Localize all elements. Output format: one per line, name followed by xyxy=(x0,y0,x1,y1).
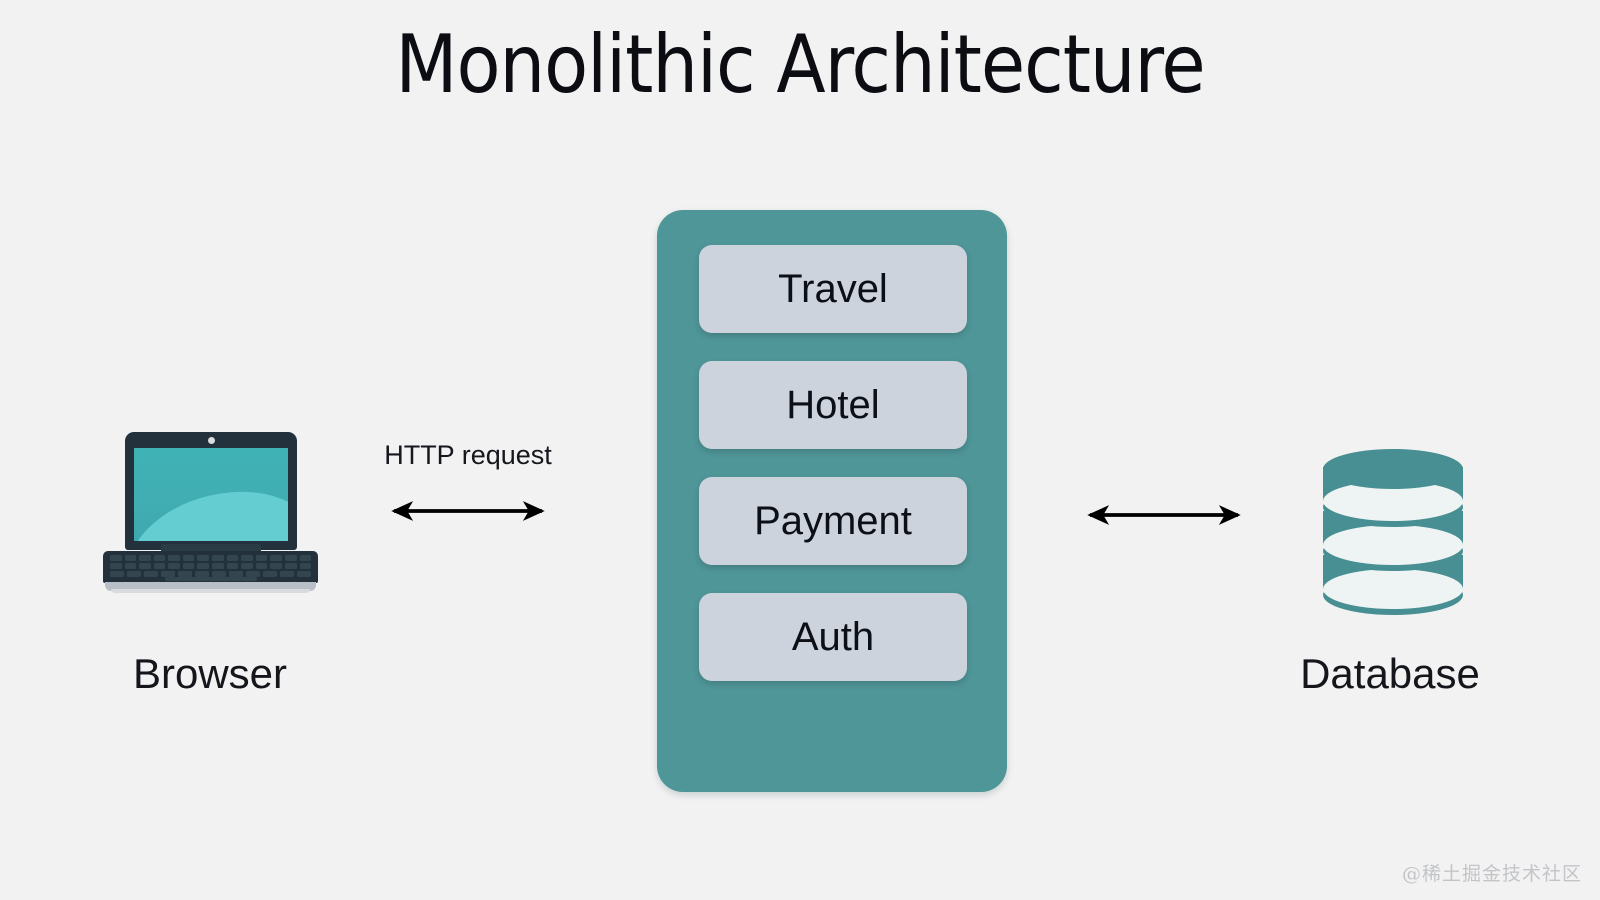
service-label: Travel xyxy=(778,267,888,312)
keyboard-spacebar xyxy=(165,577,257,581)
laptop-keyboard xyxy=(103,551,318,583)
database-disc-top xyxy=(1323,449,1463,489)
database-separator xyxy=(1323,525,1463,565)
service-block-hotel[interactable]: Hotel xyxy=(699,361,967,449)
laptop-lid xyxy=(125,432,297,550)
monolith-to-database-arrow xyxy=(1080,503,1252,527)
webcam-icon xyxy=(208,437,215,444)
service-block-payment[interactable]: Payment xyxy=(699,477,967,565)
database-cylinder-icon xyxy=(1323,449,1463,599)
browser-label: Browser xyxy=(60,650,360,698)
screen-wallpaper-swoosh xyxy=(134,486,288,541)
database-separator xyxy=(1323,569,1463,609)
laptop-base-shadow xyxy=(111,589,310,593)
laptop-icon xyxy=(103,432,318,592)
service-label: Payment xyxy=(754,499,912,544)
service-list: Travel Hotel Payment Auth xyxy=(699,245,967,681)
service-block-travel[interactable]: Travel xyxy=(699,245,967,333)
browser-to-monolith-arrow xyxy=(382,495,554,527)
laptop-screen xyxy=(134,448,288,541)
http-request-label: HTTP request xyxy=(330,440,606,471)
service-label: Auth xyxy=(792,615,874,660)
service-block-auth[interactable]: Auth xyxy=(699,593,967,681)
monolith-container: Travel Hotel Payment Auth xyxy=(657,210,1007,792)
page-title: Monolithic Architecture xyxy=(0,18,1600,111)
database-label: Database xyxy=(1240,650,1540,800)
keyboard-row xyxy=(110,555,311,561)
keyboard-row xyxy=(110,563,311,569)
watermark: @稀土掘金技术社区 xyxy=(1402,859,1582,886)
diagram-canvas: Monolithic Architecture Browser HTTP req xyxy=(0,0,1600,900)
service-label: Hotel xyxy=(786,383,879,428)
